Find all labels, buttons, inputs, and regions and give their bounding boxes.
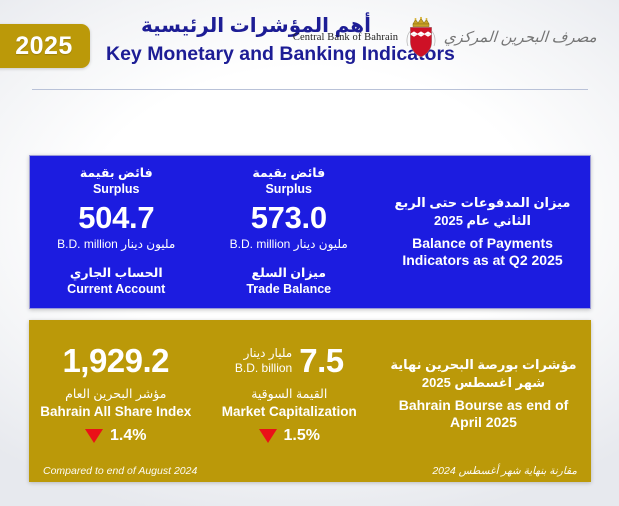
metric-status-english: Surplus — [207, 182, 372, 198]
metric-unit-english: B.D. million — [230, 237, 291, 251]
metric-label: ميزان السلع Trade Balance — [207, 266, 372, 298]
year-badge-label: 2025 — [3, 32, 73, 61]
infographic-page: 2025 أهم المؤشرات الرئيسية Key Monetary … — [0, 0, 619, 506]
bahrain-coat-of-arms-icon — [404, 15, 438, 59]
metric-label-english: Bahrain All Share Index — [33, 404, 199, 421]
metric-value: 7.5 — [299, 343, 343, 379]
metric-status-arabic: فائض بقيمة — [207, 166, 372, 181]
metric-label-english: Trade Balance — [207, 282, 372, 298]
panel-footnote-english: Compared to end of August 2024 — [43, 465, 197, 477]
panel-heading-arabic: مؤشرات بورصة البحرين نهاية شهر اغسطس 202… — [386, 356, 581, 393]
cbb-logo: Central Bank of Bahrain — [293, 13, 597, 61]
metric-label: مؤشر البحرين العام Bahrain All Share Ind… — [33, 387, 199, 421]
metric-change-value: 1.5% — [284, 427, 320, 445]
metric-unit-english: B.D. million — [57, 237, 118, 251]
metric-change: 1.4% — [33, 427, 199, 445]
metric-value: 573.0 — [207, 201, 372, 236]
triangle-down-icon — [85, 429, 103, 443]
metric-unit: مليار دينار B.D. billion — [235, 346, 292, 376]
metric-label-arabic: القيمة السوقية — [207, 387, 373, 403]
metric-status-arabic: فائض بقيمة — [34, 166, 199, 181]
panel-heading-english: Balance of Payments Indicators as at Q2 … — [385, 235, 580, 270]
metric-label-arabic: مؤشر البحرين العام — [33, 387, 199, 403]
metric-unit: مليون دينار B.D. million — [207, 237, 372, 251]
cbb-logo-english-text: Central Bank of Bahrain — [293, 32, 398, 43]
metric-unit-arabic: مليار دينار — [235, 346, 292, 361]
metric-unit-english: B.D. billion — [235, 361, 292, 376]
year-badge: 2025 — [0, 24, 90, 68]
panel-balance-of-payments: ميزان المدفوعات حتى الربع الثاني عام 202… — [29, 155, 591, 309]
panel-heading-bahrain-bourse: مؤشرات بورصة البحرين نهاية شهر اغسطس 202… — [376, 350, 591, 438]
header-divider — [32, 89, 588, 90]
metric-unit-arabic: مليون دينار — [294, 237, 348, 251]
metric-value: 504.7 — [34, 201, 199, 236]
metric-change-value: 1.4% — [110, 427, 146, 445]
panel-footnote-arabic: مقارنة بنهاية شهر أغسطس 2024 — [432, 465, 577, 477]
panel-heading-english: Bahrain Bourse as end of April 2025 — [386, 397, 581, 432]
metric-status-english: Surplus — [34, 182, 199, 198]
panel-heading-arabic: ميزان المدفوعات حتى الربع الثاني عام 202… — [385, 194, 580, 231]
triangle-down-icon — [259, 429, 277, 443]
panel-heading-balance-of-payments: ميزان المدفوعات حتى الربع الثاني عام 202… — [375, 156, 590, 308]
metric-unit-arabic: مليون دينار — [121, 237, 175, 251]
metric-label-arabic: ميزان السلع — [207, 266, 372, 281]
metrics-bahrain-bourse: مليار دينار B.D. billion 7.5 القيمة السو… — [29, 339, 376, 450]
metric-change: 1.5% — [207, 427, 373, 445]
metric-label: القيمة السوقية Market Capitalization — [207, 387, 373, 421]
metric-bahrain-all-share-index: 1,929.2 مؤشر البحرين العام Bahrain All S… — [29, 339, 203, 450]
metric-market-capitalization: مليار دينار B.D. billion 7.5 القيمة السو… — [203, 339, 377, 450]
cbb-logo-arabic-text: مصرف البحرين المركزي — [443, 28, 597, 46]
metric-value: 1,929.2 — [62, 343, 169, 379]
metric-current-account: فائض بقيمة Surplus 504.7 مليون دينار B.D… — [30, 162, 203, 301]
metric-unit: مليون دينار B.D. million — [34, 237, 199, 251]
metric-label: الحساب الجاري Current Account — [34, 266, 199, 298]
metrics-balance-of-payments: فائض بقيمة Surplus 573.0 مليون دينار B.D… — [30, 156, 375, 308]
panel-bahrain-bourse: مؤشرات بورصة البحرين نهاية شهر اغسطس 202… — [29, 320, 591, 482]
header: 2025 أهم المؤشرات الرئيسية Key Monetary … — [0, 0, 619, 92]
metric-trade-balance: فائض بقيمة Surplus 573.0 مليون دينار B.D… — [203, 162, 376, 301]
metric-label-english: Current Account — [34, 282, 199, 298]
metric-label-english: Market Capitalization — [207, 404, 373, 421]
metric-label-arabic: الحساب الجاري — [34, 266, 199, 281]
